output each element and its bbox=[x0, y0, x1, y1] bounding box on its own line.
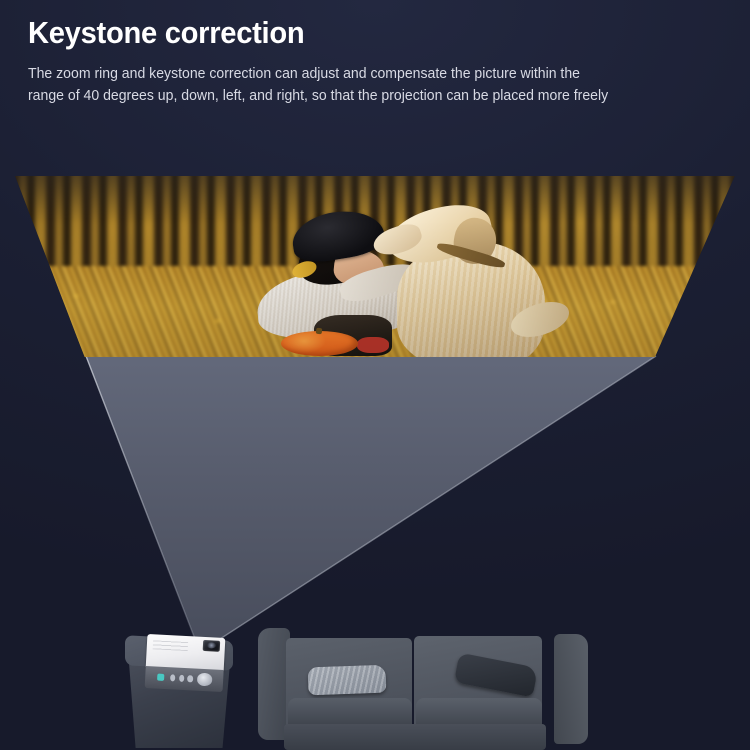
sofa-right-armrest bbox=[554, 634, 588, 744]
photo-sheen-overlay bbox=[10, 170, 742, 362]
light-grey-cushion bbox=[308, 665, 387, 696]
projector-device[interactable] bbox=[145, 634, 226, 692]
power-button[interactable] bbox=[158, 673, 165, 681]
menu-button[interactable] bbox=[170, 674, 176, 682]
slide-stage: Keystone correction The zoom ring and ke… bbox=[0, 0, 750, 750]
sofa bbox=[258, 620, 588, 750]
lens-icon bbox=[203, 640, 221, 652]
projector-body bbox=[146, 634, 226, 672]
up-button[interactable] bbox=[179, 675, 185, 683]
down-button[interactable] bbox=[187, 675, 193, 683]
navigation-dial[interactable] bbox=[196, 673, 212, 686]
projector-vents-icon bbox=[153, 640, 188, 650]
control-panel[interactable] bbox=[145, 666, 224, 692]
photo-content bbox=[10, 170, 742, 362]
projected-image bbox=[10, 170, 742, 362]
sofa-base bbox=[284, 724, 546, 750]
